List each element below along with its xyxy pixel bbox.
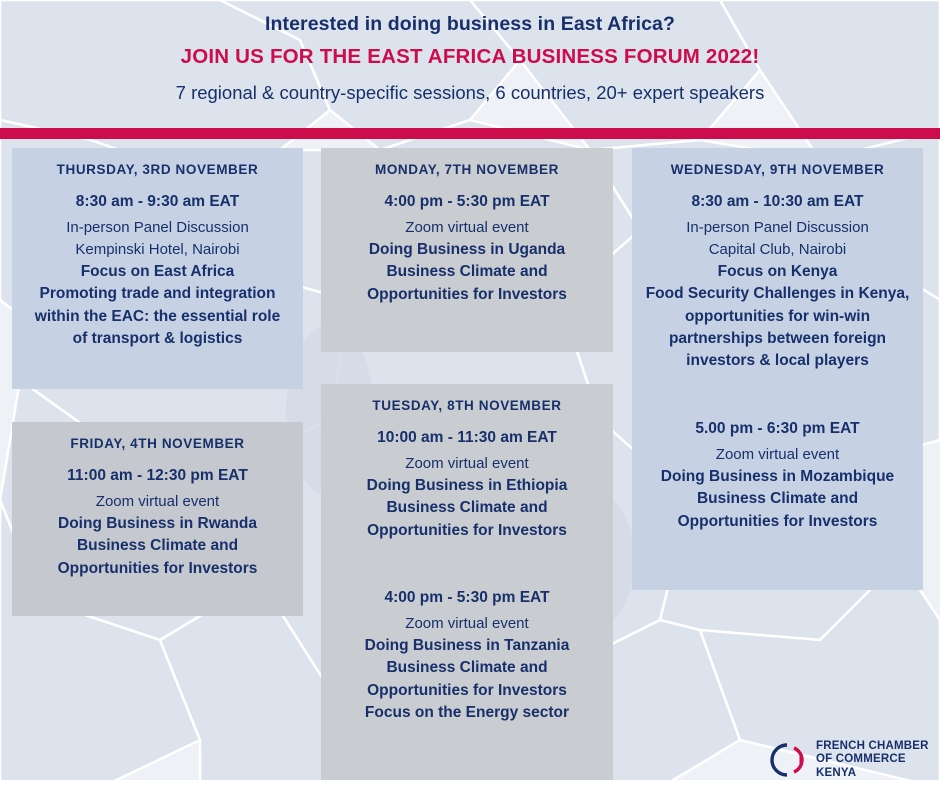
poster-canvas: Interested in doing business in East Afr… [0, 0, 940, 788]
session-title: Doing Business in Uganda [333, 239, 601, 261]
logo-line-3: Kenya [816, 767, 929, 781]
session-rwanda: 11:00 am - 12:30 pm EAT Zoom virtual eve… [24, 466, 291, 580]
session-kenya: 8:30 am - 10:30 am EAT In-person Panel D… [644, 192, 911, 373]
session-east-africa: 8:30 am - 9:30 am EAT In-person Panel Di… [24, 192, 291, 350]
logo-line-1: French Chamber [816, 740, 929, 754]
session-mode: Zoom virtual event [24, 491, 291, 513]
session-subtitle-line2: Opportunities for Investors [333, 284, 601, 306]
session-uganda: 4:00 pm - 5:30 pm EAT Zoom virtual event… [333, 192, 601, 306]
session-tanzania: 4:00 pm - 5:30 pm EAT Zoom virtual event… [333, 588, 601, 725]
session-title: Doing Business in Mozambique [644, 466, 911, 488]
session-mode: Zoom virtual event [333, 613, 601, 635]
session-title: Doing Business in Rwanda [24, 513, 291, 535]
session-time: 10:00 am - 11:30 am EAT [333, 428, 601, 449]
session-time: 4:00 pm - 5:30 pm EAT [333, 588, 601, 609]
session-title: Doing Business in Tanzania [333, 635, 601, 657]
session-subtitle-line2: Opportunities for Investors [333, 520, 601, 542]
session-subtitle-line2: Opportunities for Investors [333, 680, 601, 702]
card-tuesday: TUESDAY, 8TH NOVEMBER 10:00 am - 11:30 a… [321, 384, 613, 788]
session-subtitle-line2: Opportunities for Investors [644, 511, 911, 533]
session-subtitle-line2: Opportunities for Investors [24, 558, 291, 580]
header-headline: JOIN US FOR THE EAST AFRICA BUSINESS FOR… [0, 36, 940, 69]
session-mode: In-person Panel Discussion [644, 217, 911, 239]
cci-monogram-icon [770, 741, 808, 779]
session-description-line1: Food Security Challenges in Kenya, [644, 283, 911, 305]
session-venue: Kempinski Hotel, Nairobi [24, 239, 291, 261]
logo-wordmark: French Chamber of Commerce Kenya [816, 740, 929, 781]
card-friday-day: FRIDAY, 4TH NOVEMBER [24, 436, 291, 452]
session-description-line1: Promoting trade and integration [24, 283, 291, 305]
french-chamber-of-commerce-logo: French Chamber of Commerce Kenya [770, 738, 930, 782]
session-description-line3: of transport & logistics [24, 328, 291, 350]
card-thursday: THURSDAY, 3RD NOVEMBER 8:30 am - 9:30 am… [12, 148, 303, 389]
session-mode: Zoom virtual event [644, 444, 911, 466]
session-description-line4: investors & local players [644, 350, 911, 372]
session-time: 11:00 am - 12:30 pm EAT [24, 466, 291, 487]
session-mode: In-person Panel Discussion [24, 217, 291, 239]
session-title: Focus on Kenya [644, 261, 911, 283]
session-description-line2: within the EAC: the essential role [24, 306, 291, 328]
session-time: 4:00 pm - 5:30 pm EAT [333, 192, 601, 213]
session-venue: Capital Club, Nairobi [644, 239, 911, 261]
session-mozambique: 5.00 pm - 6:30 pm EAT Zoom virtual event… [644, 419, 911, 533]
session-mode: Zoom virtual event [333, 217, 601, 239]
session-time: 8:30 am - 10:30 am EAT [644, 192, 911, 213]
session-subtitle-line1: Business Climate and [333, 497, 601, 519]
card-monday-day: MONDAY, 7TH NOVEMBER [333, 162, 601, 178]
header-question: Interested in doing business in East Afr… [0, 0, 940, 36]
header-subtitle: 7 regional & country-specific sessions, … [0, 69, 940, 104]
session-time: 8:30 am - 9:30 am EAT [24, 192, 291, 213]
card-wednesday: WEDNESDAY, 9TH NOVEMBER 8:30 am - 10:30 … [632, 148, 923, 590]
session-subtitle-line1: Business Climate and [333, 261, 601, 283]
poster-header: Interested in doing business in East Afr… [0, 0, 940, 132]
logo-line-2: of Commerce [816, 753, 929, 767]
bottom-white-strip [0, 780, 940, 788]
session-title: Doing Business in Ethiopia [333, 475, 601, 497]
session-subtitle-line3: Focus on the Energy sector [333, 702, 601, 724]
card-wednesday-day: WEDNESDAY, 9TH NOVEMBER [644, 162, 911, 178]
session-description-line3: partnerships between foreign [644, 328, 911, 350]
card-monday: MONDAY, 7TH NOVEMBER 4:00 pm - 5:30 pm E… [321, 148, 613, 352]
session-mode: Zoom virtual event [333, 453, 601, 475]
header-divider-rule [0, 128, 940, 139]
card-thursday-day: THURSDAY, 3RD NOVEMBER [24, 162, 291, 178]
card-friday: FRIDAY, 4TH NOVEMBER 11:00 am - 12:30 pm… [12, 422, 303, 616]
session-subtitle-line1: Business Climate and [333, 657, 601, 679]
session-title: Focus on East Africa [24, 261, 291, 283]
session-subtitle-line1: Business Climate and [644, 488, 911, 510]
session-ethiopia: 10:00 am - 11:30 am EAT Zoom virtual eve… [333, 428, 601, 542]
session-time: 5.00 pm - 6:30 pm EAT [644, 419, 911, 440]
session-subtitle-line1: Business Climate and [24, 535, 291, 557]
card-tuesday-day: TUESDAY, 8TH NOVEMBER [333, 398, 601, 414]
session-description-line2: opportunities for win-win [644, 306, 911, 328]
